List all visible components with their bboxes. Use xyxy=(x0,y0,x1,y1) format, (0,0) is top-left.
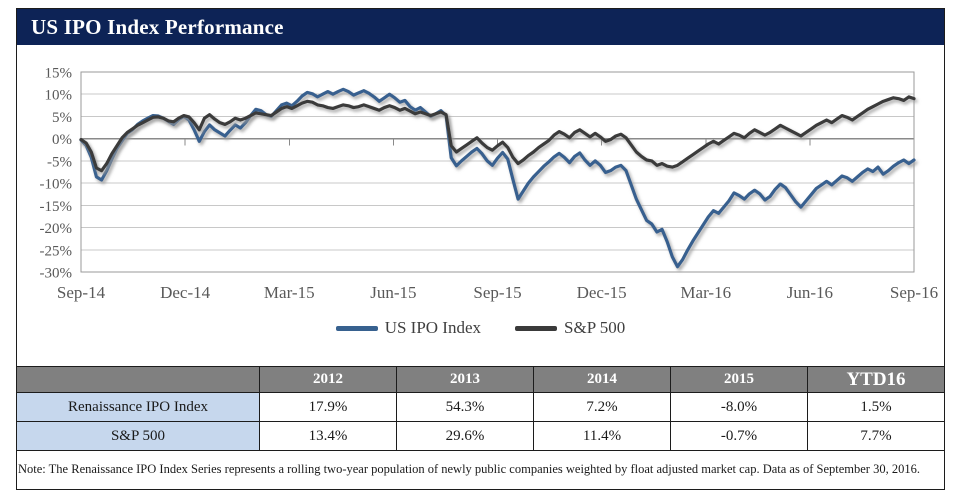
x-axis-tick-label: Sep-14 xyxy=(57,283,106,302)
cell-sp500-2015: -0.7% xyxy=(671,422,808,451)
plot-area-border xyxy=(81,72,914,272)
x-axis-tick-label: Dec-15 xyxy=(577,283,627,302)
y-axis-tick-label: -30% xyxy=(40,266,73,282)
y-axis-tick-label: 10% xyxy=(45,88,73,104)
table-header-corner xyxy=(17,367,260,393)
y-axis-tick-label: -10% xyxy=(40,177,73,193)
legend-swatch-ipo xyxy=(336,326,378,331)
table-header-ytd16: YTD16 xyxy=(808,367,945,393)
table-header-2012: 2012 xyxy=(260,367,397,393)
title-banner: US IPO Index Performance xyxy=(17,9,944,45)
table-header-2014: 2014 xyxy=(534,367,671,393)
chart-plot-border xyxy=(81,72,914,272)
x-axis-tick-label: Jun-16 xyxy=(787,283,833,302)
x-axis-tick-label: Sep-15 xyxy=(473,283,521,302)
ipo-performance-page: US IPO Index Performance 15%10%5%0%-5%-1… xyxy=(0,0,962,498)
table-header-2013: 2013 xyxy=(397,367,534,393)
chart-series-layer xyxy=(81,89,914,266)
legend-label-ipo: US IPO Index xyxy=(385,318,481,338)
row-label-renaissance-ipo-index: Renaissance IPO Index xyxy=(17,393,260,422)
page-title: US IPO Index Performance xyxy=(17,15,284,40)
legend-item-ipo: US IPO Index xyxy=(336,318,481,338)
y-axis-tick-label: -5% xyxy=(47,154,72,170)
y-axis-tick-label: 0% xyxy=(52,132,72,148)
table-header-2015: 2015 xyxy=(671,367,808,393)
line-chart: 15%10%5%0%-5%-10%-15%-20%-25%-30% Sep-14… xyxy=(17,46,944,316)
y-axis-tick-label: 5% xyxy=(52,110,72,126)
performance-table: 2012 2013 2014 2015 YTD16 Renaissance IP… xyxy=(16,366,945,451)
y-axis-tick-label: -25% xyxy=(40,243,73,259)
y-axis-tick-label: -20% xyxy=(40,221,73,237)
row-label-sp500: S&P 500 xyxy=(17,422,260,451)
footnote: Note: The Renaissance IPO Index Series r… xyxy=(18,462,938,477)
x-axis-tick-label: Jun-15 xyxy=(370,283,416,302)
table-row: S&P 500 13.4% 29.6% 11.4% -0.7% 7.7% xyxy=(17,422,945,451)
chart-gridlines xyxy=(81,72,914,272)
cell-renaissance-2012: 17.9% xyxy=(260,393,397,422)
legend-label-sp500: S&P 500 xyxy=(564,318,625,338)
y-axis-tick-label: 15% xyxy=(45,66,73,82)
cell-sp500-2014: 11.4% xyxy=(534,422,671,451)
cell-renaissance-2015: -8.0% xyxy=(671,393,808,422)
y-axis-tick-label: -15% xyxy=(40,199,73,215)
x-axis-tick-label: Dec-14 xyxy=(160,283,211,302)
cell-renaissance-ytd16: 1.5% xyxy=(808,393,945,422)
x-axis-tick-label: Mar-15 xyxy=(264,283,315,302)
x-axis-tick-label: Mar-16 xyxy=(680,283,731,302)
cell-sp500-ytd16: 7.7% xyxy=(808,422,945,451)
cell-renaissance-2014: 7.2% xyxy=(534,393,671,422)
cell-sp500-2012: 13.4% xyxy=(260,422,397,451)
cell-sp500-2013: 29.6% xyxy=(397,422,534,451)
legend-item-sp500: S&P 500 xyxy=(515,318,625,338)
table-row: Renaissance IPO Index 17.9% 54.3% 7.2% -… xyxy=(17,393,945,422)
table-header-row: 2012 2013 2014 2015 YTD16 xyxy=(17,367,945,393)
chart-legend: US IPO Index S&P 500 xyxy=(17,318,944,338)
legend-swatch-sp500 xyxy=(515,326,557,331)
cell-renaissance-2013: 54.3% xyxy=(397,393,534,422)
chart-container: 15%10%5%0%-5%-10%-15%-20%-25%-30% Sep-14… xyxy=(17,46,944,356)
chart-y-axis-labels: 15%10%5%0%-5%-10%-15%-20%-25%-30% xyxy=(40,66,73,282)
x-axis-tick-label: Sep-16 xyxy=(890,283,938,302)
chart-x-axis-labels: Sep-14Dec-14Mar-15Jun-15Sep-15Dec-15Mar-… xyxy=(57,283,938,302)
